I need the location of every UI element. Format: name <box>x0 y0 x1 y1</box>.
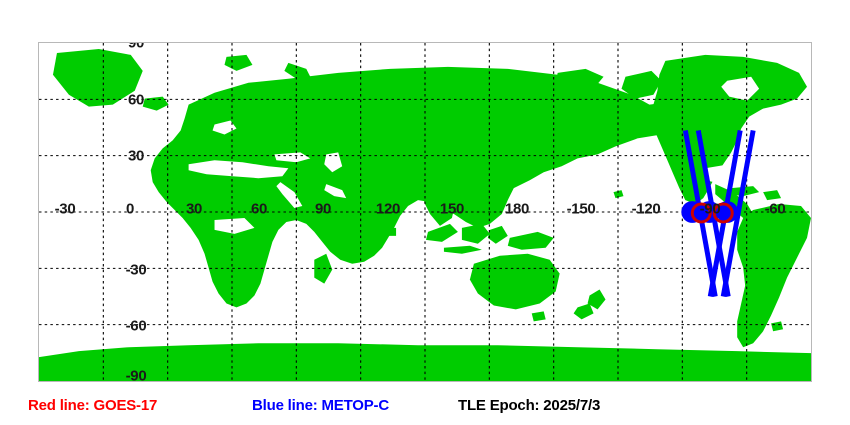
lon-tick-label-30: 30 <box>186 202 202 217</box>
lon-tick-label-90: 90 <box>315 202 331 217</box>
satellite-track-map-page: 90 60 30 -30 -60 -90 -30 0 30 60 90 120 … <box>0 0 850 425</box>
legend-blue-line-metop-c: Blue line: METOP-C <box>252 398 389 413</box>
lon-tick-label--90: -90 <box>700 202 721 217</box>
lon-tick-label-150: 150 <box>440 202 464 217</box>
lon-tick-label-120: 120 <box>376 202 400 217</box>
landmass-sri-lanka <box>388 228 396 236</box>
lon-tick-label-0: 0 <box>126 202 134 217</box>
lat-tick-label--90: -90 <box>126 369 147 383</box>
map-plot-area[interactable]: 90 60 30 -30 -60 -90 -30 0 30 60 90 120 … <box>38 42 812 382</box>
lon-tick-label-180: 180 <box>505 202 529 217</box>
lat-tick-label-30: 30 <box>128 149 144 164</box>
lat-tick-label--60: -60 <box>126 319 147 334</box>
legend-red-line-goes-17: Red line: GOES-17 <box>28 398 157 413</box>
lat-tick-label-90: 90 <box>128 42 144 51</box>
legend-caption-row: Red line: GOES-17 Blue line: METOP-C TLE… <box>0 392 850 422</box>
lat-tick-label-60: 60 <box>128 92 144 107</box>
lon-tick-label-60: 60 <box>251 202 267 217</box>
world-map-svg <box>39 43 811 381</box>
lon-tick-label--120: -120 <box>632 202 661 217</box>
lon-tick-label--30: -30 <box>55 202 76 217</box>
lon-tick-label--60: -60 <box>765 202 786 217</box>
lat-tick-label--30: -30 <box>126 262 147 277</box>
lon-tick-label--150: -150 <box>567 202 596 217</box>
tle-epoch-label: TLE Epoch: 2025/7/3 <box>458 398 600 413</box>
